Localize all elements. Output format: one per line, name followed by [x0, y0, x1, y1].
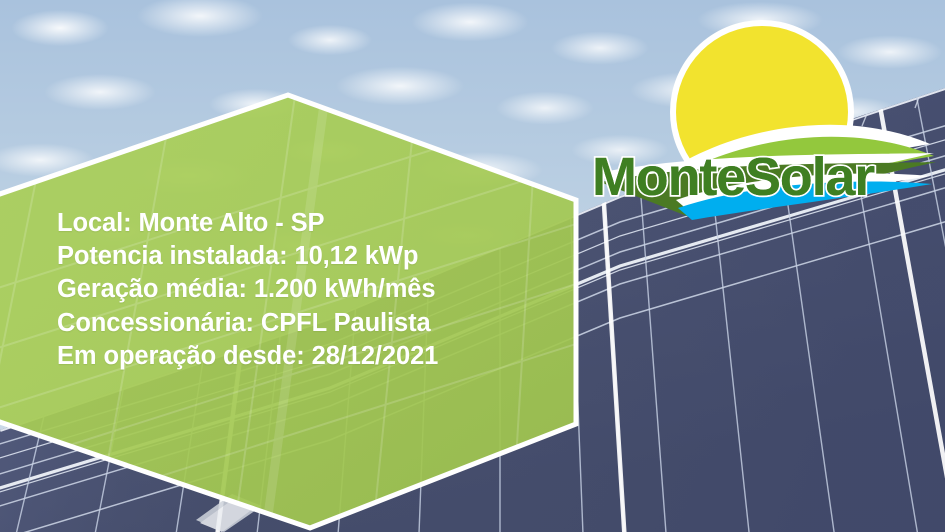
montesolar-logo-mark — [0, 0, 945, 532]
brand-wordmark: MonteSolar — [592, 146, 874, 208]
promo-card: Local: Monte Alto - SP Potencia instalad… — [0, 0, 945, 532]
